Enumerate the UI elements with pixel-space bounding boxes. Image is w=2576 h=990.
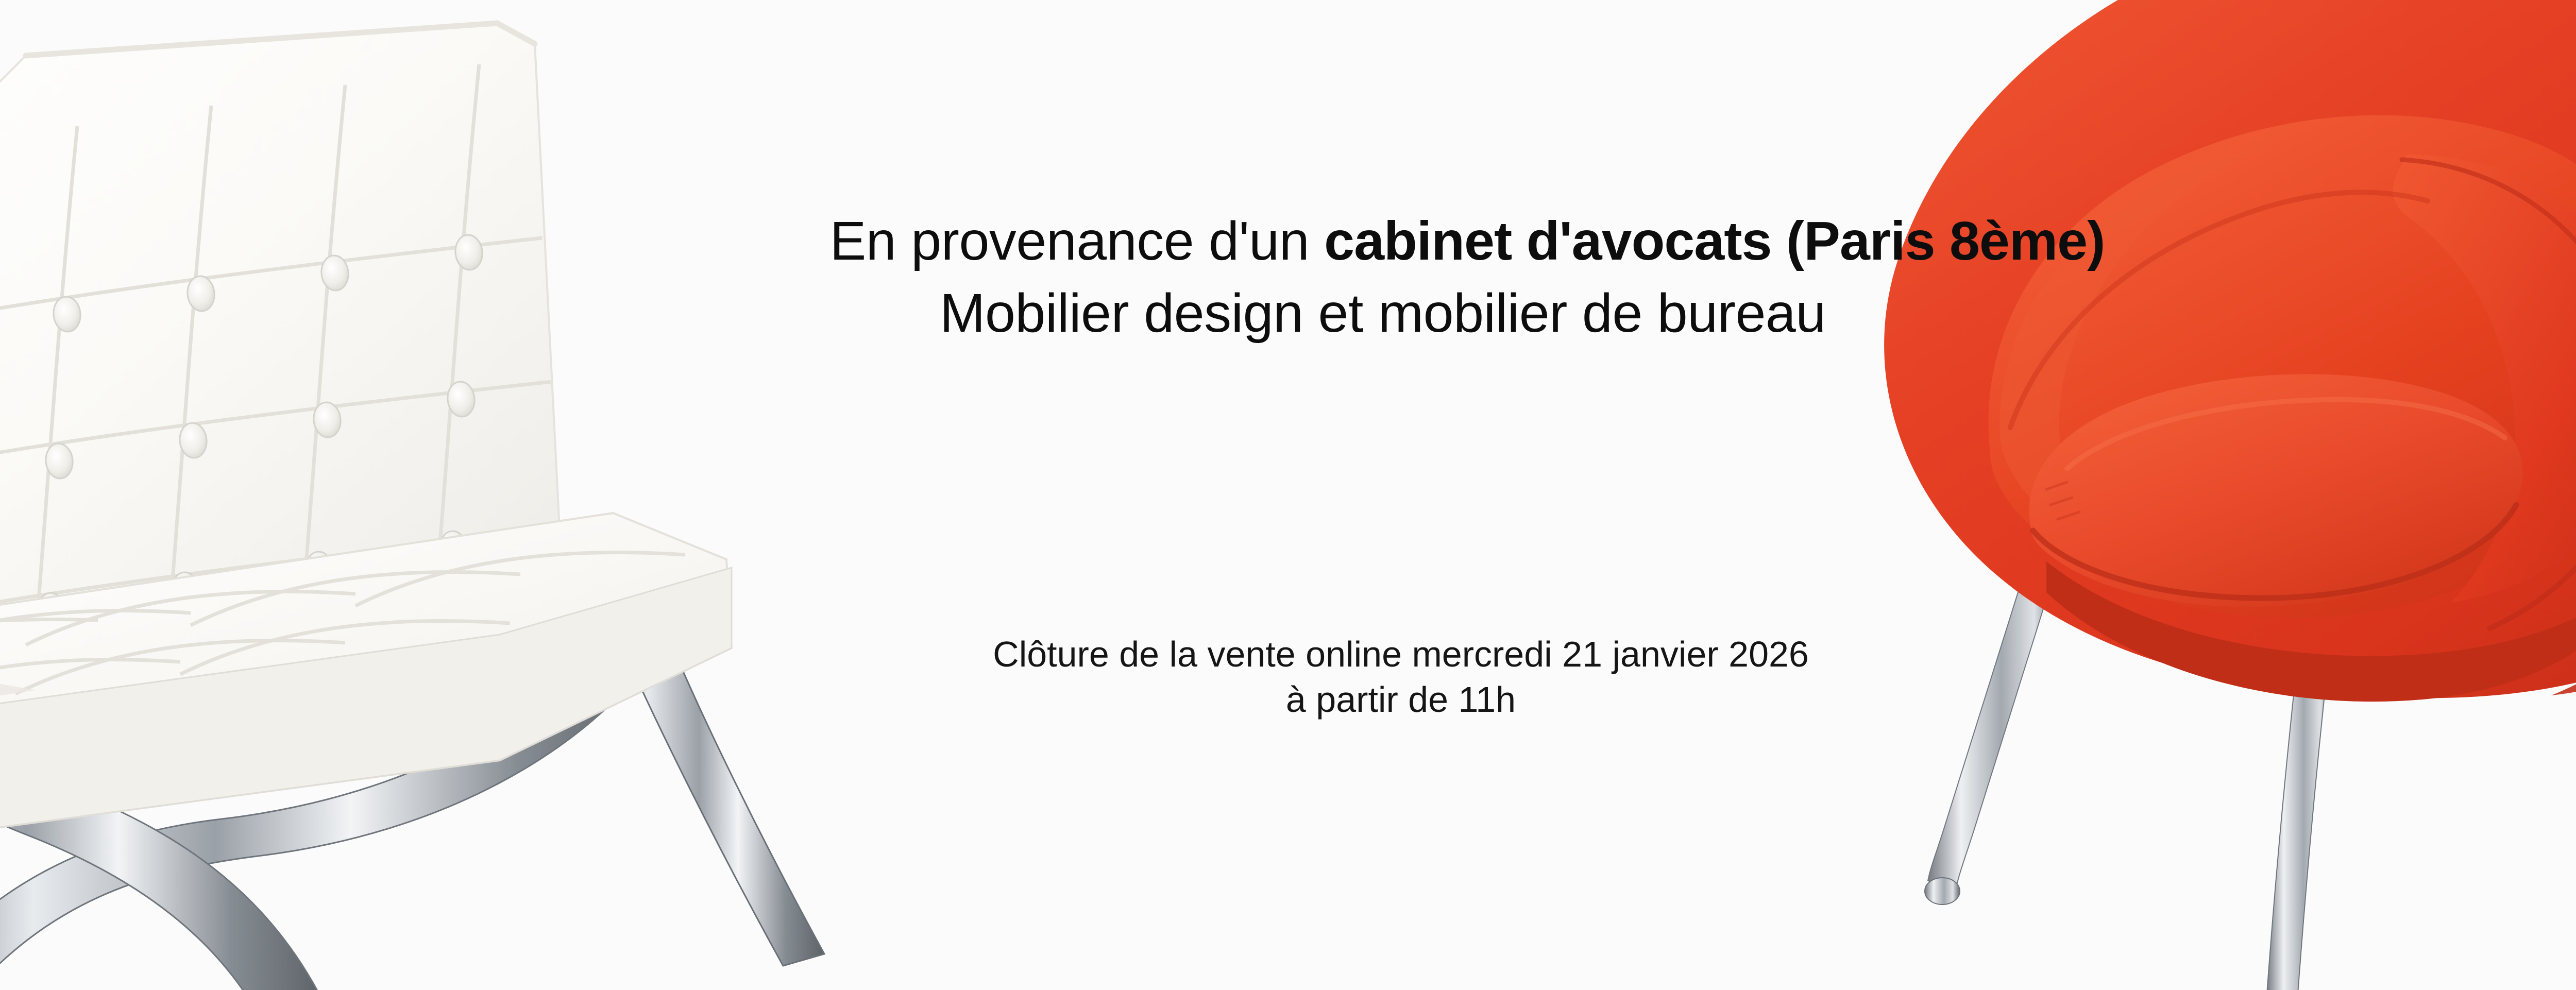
white-barcelona-chair-image	[0, 0, 1025, 990]
red-womb-chair-image	[1825, 0, 2576, 990]
auction-banner: En provenance d'un cabinet d'avocats (Pa…	[0, 0, 2576, 990]
